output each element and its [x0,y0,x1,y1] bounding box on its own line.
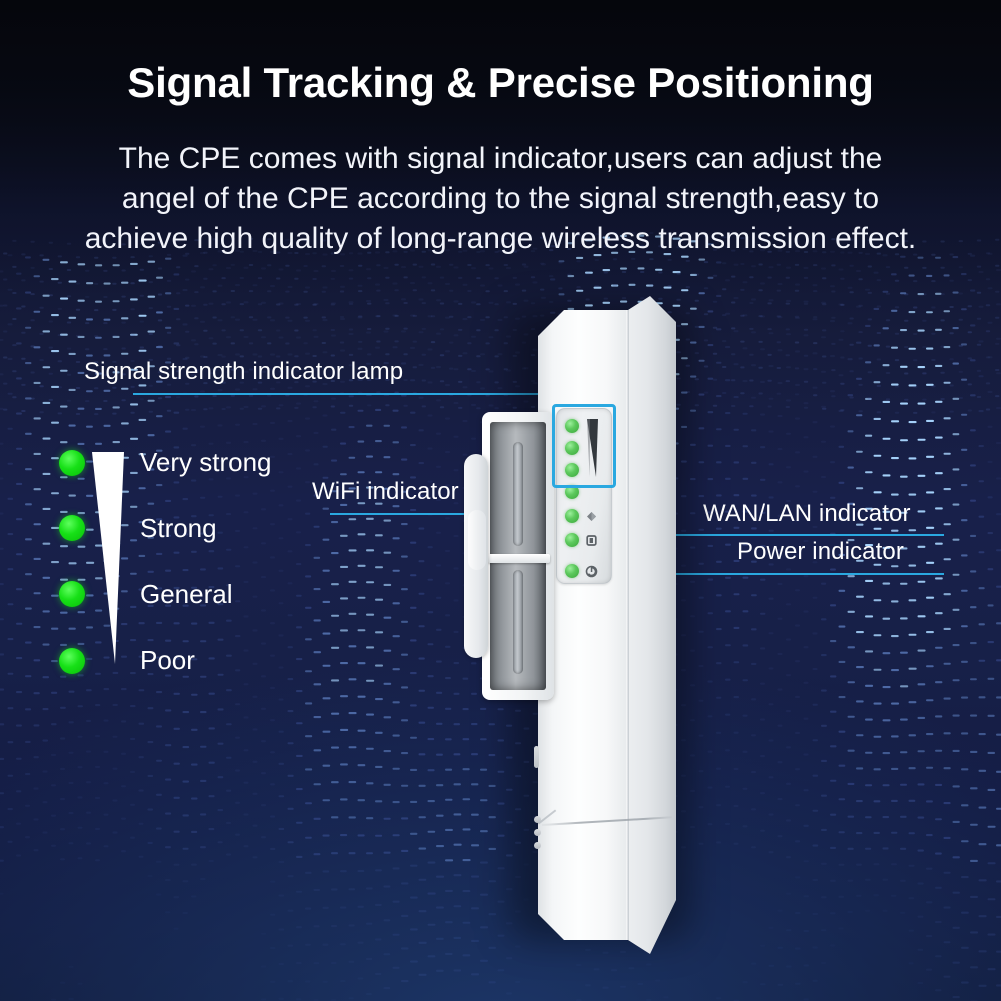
wan-lan-led [565,533,579,547]
bracket-cross-rail [488,554,550,563]
power-icon [584,564,599,579]
page-title: Signal Tracking & Precise Positioning [0,61,1001,105]
bracket-slot-upper [513,442,523,546]
description-line-1: The CPE comes with signal indicator,user… [50,139,951,179]
device-front-edge [626,310,629,940]
bracket-slot-lower [513,570,523,674]
power-led [565,564,579,578]
callout-wan-lan-label: WAN/LAN indicator [703,500,911,528]
wan-lan-port-icon [584,533,599,548]
wifi-led [565,509,579,523]
cpe-device [470,296,720,956]
signal-lamp-highlight-box [552,404,616,488]
device-side-nub-1 [534,816,541,823]
legend-dot-very-strong [59,450,85,476]
device-side-vent [534,746,539,768]
legend-dot-poor [59,648,85,674]
device-side-face [628,296,676,954]
signal-strength-wedge-icon [88,450,136,666]
legend-label-general: General [140,579,233,610]
device-mounting-bracket [470,406,560,706]
description-line-2: angel of the CPE according to the signal… [50,179,951,219]
callout-power-label: Power indicator [737,538,904,566]
wifi-signal-icon [584,509,599,524]
page-description: The CPE comes with signal indicator,user… [50,139,951,259]
legend-dot-strong [59,515,85,541]
legend-dot-general [59,581,85,607]
legend-label-very-strong: Very strong [140,447,272,478]
legend-label-poor: Poor [140,645,195,676]
callout-signal-lamp-label: Signal strength indicator lamp [84,358,403,386]
callout-wifi-label: WiFi indicator [312,478,459,506]
legend-label-strong: Strong [140,513,217,544]
bracket-pivot-knob [468,510,486,570]
device-side-nub-3 [534,842,541,849]
infographic-page: Signal Tracking & Precise Positioning Th… [0,0,1001,1001]
device-side-nub-2 [534,829,541,836]
description-line-3: achieve high quality of long-range wirel… [50,219,951,259]
